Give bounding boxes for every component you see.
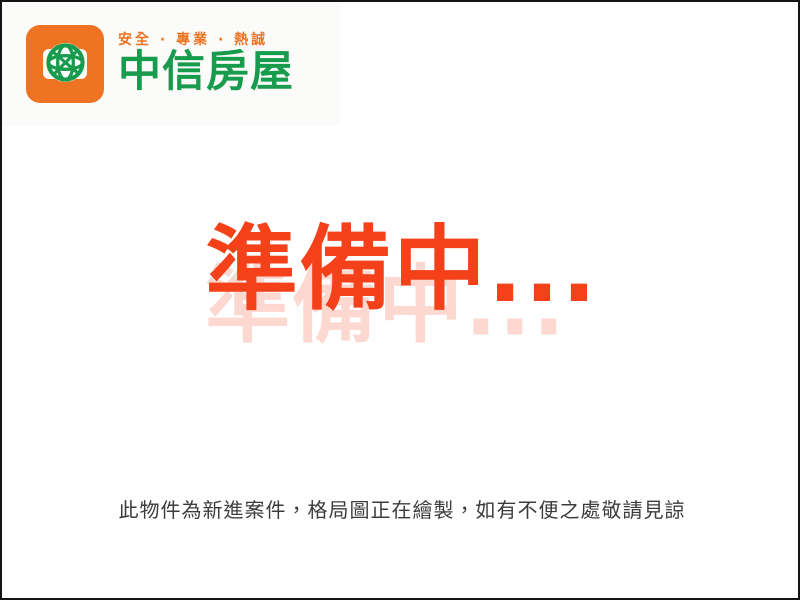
brand-logo-panel: 安全 · 專業 · 熱誠 中信房屋 xyxy=(2,2,340,126)
brand-wordmark: 安全 · 專業 · 熱誠 中信房屋 xyxy=(118,33,294,95)
headline-area: 準備中... 準備中... xyxy=(2,216,800,356)
placeholder-page: 安全 · 專業 · 熱誠 中信房屋 準備中... 準備中... 此物件為新進案件… xyxy=(0,0,800,600)
globe-icon xyxy=(45,42,86,83)
footer-note: 此物件為新進案件，格局圖正在繪製，如有不便之處敬請見諒 xyxy=(2,496,800,524)
status-headline: 準備中... xyxy=(2,216,800,325)
brand-company-name: 中信房屋 xyxy=(118,51,294,95)
chinatrust-realty-logo-mark xyxy=(26,25,104,103)
brand-tagline: 安全 · 專業 · 熱誠 xyxy=(118,33,294,48)
